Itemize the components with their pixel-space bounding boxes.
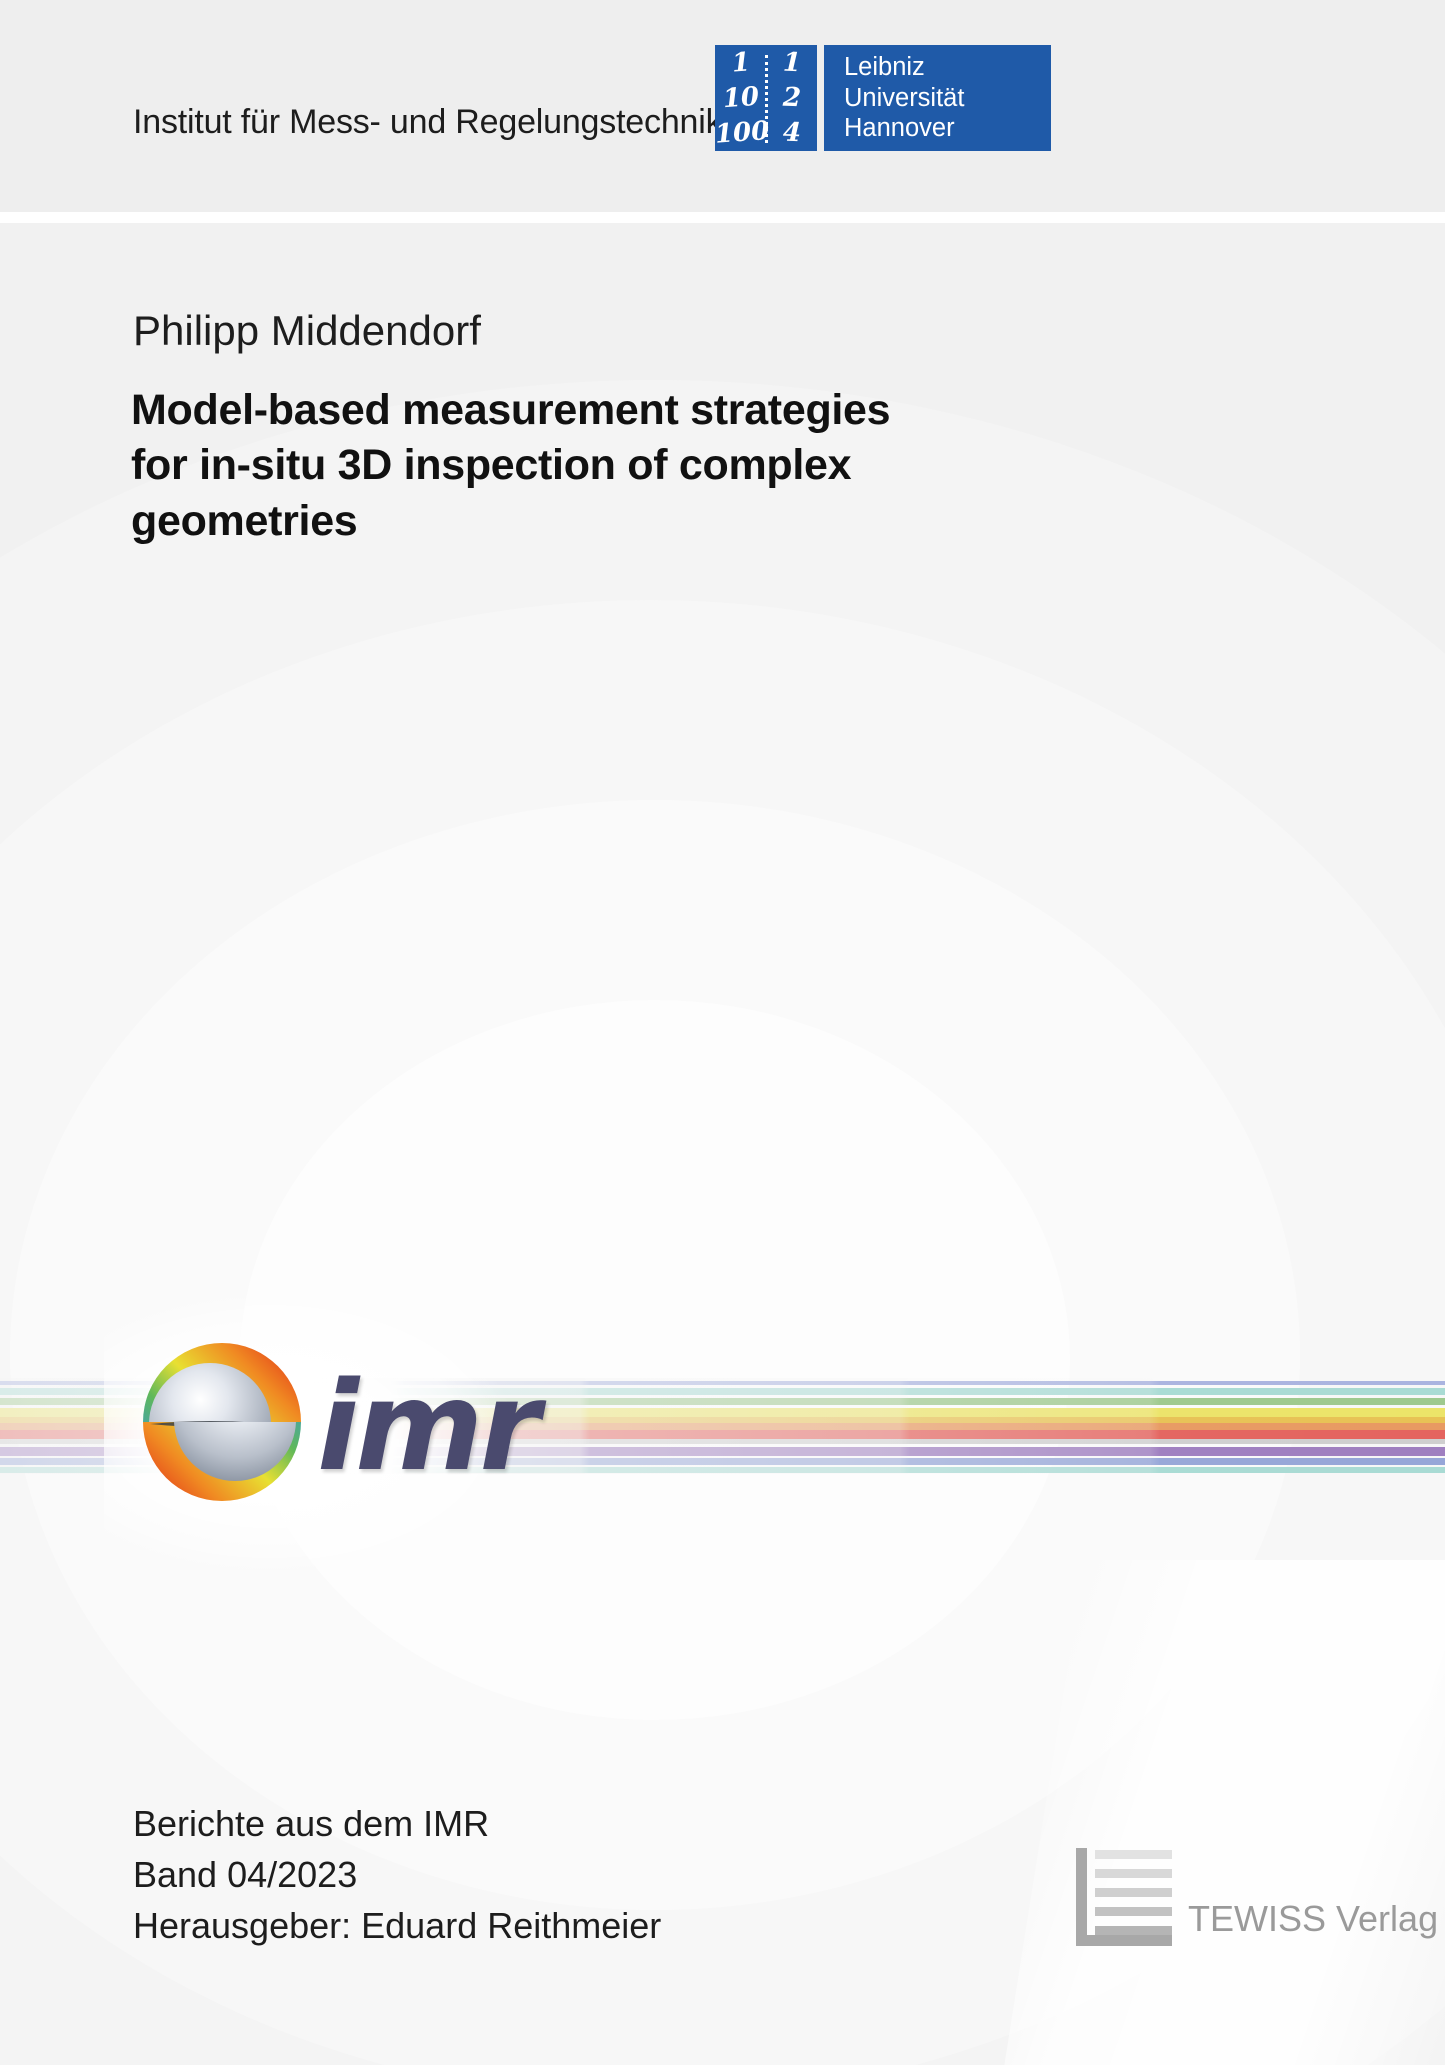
leibniz-binary-mark-icon: 1 1 10 2 100 4 — [715, 45, 817, 151]
leibniz-number: 2 — [767, 84, 818, 112]
book-title-line: Model-based measurement strategies — [131, 383, 1011, 438]
imr-wordmark: imr — [317, 1366, 536, 1489]
leibniz-number: 100 — [714, 119, 768, 149]
leibniz-name-line: Hannover — [844, 113, 1051, 144]
book-title: Model-based measurement strategies for i… — [131, 383, 1011, 549]
leibniz-number: 1 — [767, 49, 818, 77]
leibniz-number: 1 — [714, 48, 768, 78]
imprint-block: Berichte aus dem IMR Band 04/2023 Heraus… — [133, 1798, 661, 1951]
leibniz-number: 4 — [767, 119, 818, 147]
institute-name: Institut für Mess- und Regelungstechnik — [133, 103, 722, 142]
header-divider — [0, 212, 1445, 223]
author-name: Philipp Middendorf — [133, 307, 481, 355]
publisher-name: TEWISS Verlag — [1188, 1898, 1438, 1946]
series-name: Berichte aus dem IMR — [133, 1798, 661, 1849]
publisher-logo: TEWISS Verlag — [1076, 1848, 1438, 1946]
leibniz-divider-dots-icon — [765, 55, 768, 143]
leibniz-name-line: Universität — [844, 83, 1051, 114]
imr-logo: imr — [122, 1318, 582, 1538]
volume-number: Band 04/2023 — [133, 1849, 661, 1900]
leibniz-university-name: Leibniz Universität Hannover — [824, 45, 1051, 151]
leibniz-number: 10 — [714, 83, 768, 113]
book-title-line: for in-situ 3D inspection of complex — [131, 438, 1011, 493]
editor-name: Herausgeber: Eduard Reithmeier — [133, 1900, 661, 1951]
book-cover-page: Institut für Mess- und Regelungstechnik … — [0, 0, 1445, 2065]
leibniz-university-logo: 1 1 10 2 100 4 Leibniz Universität Hanno… — [715, 45, 1051, 151]
book-title-line: geometries — [131, 494, 1011, 549]
tewiss-book-mark-icon — [1076, 1848, 1172, 1946]
imr-sphere-icon — [140, 1340, 304, 1504]
leibniz-name-line: Leibniz — [844, 52, 1051, 83]
